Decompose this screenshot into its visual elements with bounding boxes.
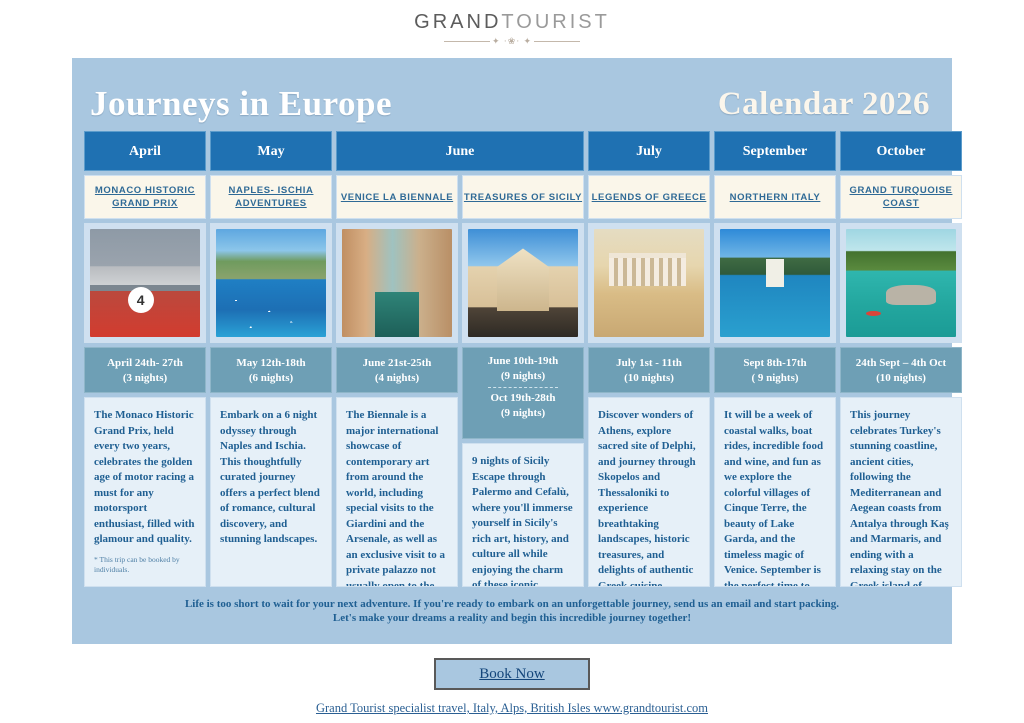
dates-nights-sicily-1: (9 nights) bbox=[465, 369, 581, 384]
dates-range-october: 24th Sept – 4th Oct bbox=[843, 356, 959, 371]
month-header-september: September bbox=[714, 131, 836, 171]
description-text-april: The Monaco Historic Grand Prix, held eve… bbox=[94, 409, 195, 545]
description-july: Discover wonders of Athens, explore sacr… bbox=[588, 397, 710, 587]
acropolis-athens-photo bbox=[594, 229, 704, 337]
trip-title-cell-april[interactable]: MONACO HISTORIC GRAND PRIX bbox=[84, 175, 206, 219]
description-april: The Monaco Historic Grand Prix, held eve… bbox=[84, 397, 206, 587]
dates-range-may: May 12th-18th bbox=[213, 356, 329, 371]
dates-nights-may: (6 nights) bbox=[213, 371, 329, 386]
month-header-may: May bbox=[210, 131, 332, 171]
page-title: Journeys in Europe bbox=[90, 86, 392, 121]
dates-cell-october: 24th Sept – 4th Oct (10 nights) bbox=[840, 347, 962, 393]
dates-range-sicily-2: Oct 19th-28th bbox=[465, 391, 581, 406]
photo-cell-may bbox=[210, 223, 332, 343]
column-september: September NORTHERN ITALY Sept 8th-17th (… bbox=[714, 131, 836, 587]
trip-link-treasures-of-sicily[interactable]: TREASURES OF SICILY bbox=[464, 191, 582, 204]
capri-coast-photo bbox=[216, 229, 326, 337]
trip-title-cell-july[interactable]: LEGENDS OF GREECE bbox=[588, 175, 710, 219]
trip-title-cell-venice[interactable]: VENICE LA BIENNALE bbox=[336, 175, 458, 219]
venice-canal-gondola-photo bbox=[342, 229, 452, 337]
month-header-october: October bbox=[840, 131, 962, 171]
page-footer: Book Now Grand Tourist specialist travel… bbox=[0, 644, 1024, 716]
description-text-venice: The Biennale is a major international sh… bbox=[346, 409, 445, 587]
photo-cell-april bbox=[84, 223, 206, 343]
dates-cell-may: May 12th-18th (6 nights) bbox=[210, 347, 332, 393]
trip-title-cell-october[interactable]: GRAND TURQUOISE COAST bbox=[840, 175, 962, 219]
description-september: It will be a week of coastal walks, boat… bbox=[714, 397, 836, 587]
dates-nights-venice: (4 nights) bbox=[339, 371, 455, 386]
lake-garda-villa-photo bbox=[720, 229, 830, 337]
trip-link-monaco[interactable]: MONACO HISTORIC GRAND PRIX bbox=[85, 184, 205, 210]
dates-cell-april: April 24th- 27th (3 nights) bbox=[84, 347, 206, 393]
brand-header: GRANDTOURIST ✦ ·❀· ✦ bbox=[0, 0, 1024, 58]
column-june: June VENICE LA BIENNALE TREASURES OF SIC… bbox=[336, 131, 584, 587]
description-text-july: Discover wonders of Athens, explore sacr… bbox=[598, 409, 696, 587]
calendar-year-title: Calendar 2026 bbox=[718, 88, 934, 121]
column-may: May NAPLES- ISCHIA ADVENTURES May 12th-1… bbox=[210, 131, 332, 587]
sicily-baroque-church-photo bbox=[468, 229, 578, 337]
description-text-september: It will be a week of coastal walks, boat… bbox=[724, 409, 823, 587]
photo-cell-september bbox=[714, 223, 836, 343]
month-header-april: April bbox=[84, 131, 206, 171]
description-october: This journey celebrates Turkey's stunnin… bbox=[840, 397, 962, 587]
dates-nights-april: (3 nights) bbox=[87, 371, 203, 386]
trip-link-grand-turquoise-coast[interactable]: GRAND TURQUOISE COAST bbox=[841, 184, 961, 210]
footer-site-line[interactable]: Grand Tourist specialist travel, Italy, … bbox=[316, 701, 708, 716]
dates-range-venice: June 21st-25th bbox=[339, 356, 455, 371]
june-dates: June 21st-25th (4 nights) The Biennale i… bbox=[336, 347, 584, 587]
dates-nights-september: ( 9 nights) bbox=[717, 371, 833, 386]
description-venice: The Biennale is a major international sh… bbox=[336, 397, 458, 587]
trip-link-naples-ischia[interactable]: NAPLES- ISCHIA ADVENTURES bbox=[211, 184, 331, 210]
book-now-button[interactable]: Book Now bbox=[434, 658, 590, 690]
column-october: October GRAND TURQUOISE COAST 24th Sept … bbox=[840, 131, 962, 587]
dates-range-april: April 24th- 27th bbox=[87, 356, 203, 371]
photo-cell-october bbox=[840, 223, 962, 343]
board-titles: Journeys in Europe Calendar 2026 bbox=[84, 86, 940, 131]
description-text-october: This journey celebrates Turkey's stunnin… bbox=[850, 409, 949, 587]
ornament-line-left bbox=[444, 41, 490, 42]
calendar-page: GRANDTOURIST ✦ ·❀· ✦ Journeys in Europe … bbox=[0, 0, 1024, 723]
dates-range-july: July 1st - 11th bbox=[591, 356, 707, 371]
dates-separator bbox=[488, 387, 558, 388]
photo-cell-sicily bbox=[462, 223, 584, 343]
description-may: Embark on a 6 night odyssey through Napl… bbox=[210, 397, 332, 587]
trip-title-cell-september[interactable]: NORTHERN ITALY bbox=[714, 175, 836, 219]
ornament-line-right bbox=[534, 41, 580, 42]
dates-nights-sicily-2: (9 nights) bbox=[465, 406, 581, 421]
trip-title-cell-sicily[interactable]: TREASURES OF SICILY bbox=[462, 175, 584, 219]
ornament-divider: ✦ ·❀· ✦ bbox=[444, 36, 580, 48]
footnote-april: * This trip can be booked by individuals… bbox=[94, 555, 196, 575]
description-text-may: Embark on a 6 night odyssey through Napl… bbox=[220, 409, 320, 545]
dates-nights-july: (10 nights) bbox=[591, 371, 707, 386]
june-trip-titles: VENICE LA BIENNALE TREASURES OF SICILY bbox=[336, 175, 584, 219]
tagline: Life is too short to wait for your next … bbox=[84, 587, 940, 625]
dates-cell-july: July 1st - 11th (10 nights) bbox=[588, 347, 710, 393]
calendar-grid: April MONACO HISTORIC GRAND PRIX April 2… bbox=[84, 131, 940, 587]
month-header-july: July bbox=[588, 131, 710, 171]
description-text-sicily: 9 nights of Sicily Escape through Palerm… bbox=[472, 455, 573, 587]
photo-cell-venice bbox=[336, 223, 458, 343]
brand-logo: GRANDTOURIST bbox=[414, 11, 610, 34]
brand-word-tourist: TOURIST bbox=[501, 11, 609, 34]
monaco-grand-prix-photo bbox=[90, 229, 200, 337]
turquoise-coast-kayak-photo bbox=[846, 229, 956, 337]
trip-link-northern-italy[interactable]: NORTHERN ITALY bbox=[730, 191, 821, 204]
dates-cell-venice: June 21st-25th (4 nights) bbox=[336, 347, 458, 393]
calendar-board: Journeys in Europe Calendar 2026 April M… bbox=[72, 58, 952, 644]
trip-link-legends-of-greece[interactable]: LEGENDS OF GREECE bbox=[592, 191, 707, 204]
tagline-line-1: Life is too short to wait for your next … bbox=[104, 597, 920, 611]
trip-link-venice-biennale[interactable]: VENICE LA BIENNALE bbox=[341, 191, 453, 204]
dates-cell-sicily: June 10th-19th (9 nights) Oct 19th-28th … bbox=[462, 347, 584, 439]
trip-title-cell-may[interactable]: NAPLES- ISCHIA ADVENTURES bbox=[210, 175, 332, 219]
month-header-june: June bbox=[336, 131, 584, 171]
dates-range-september: Sept 8th-17th bbox=[717, 356, 833, 371]
description-sicily: 9 nights of Sicily Escape through Palerm… bbox=[462, 443, 584, 587]
june-photos bbox=[336, 223, 584, 343]
ornament-glyph: ✦ ·❀· ✦ bbox=[492, 36, 532, 47]
photo-cell-july bbox=[588, 223, 710, 343]
tagline-line-2: Let's make your dreams a reality and beg… bbox=[104, 611, 920, 625]
column-april: April MONACO HISTORIC GRAND PRIX April 2… bbox=[84, 131, 206, 587]
brand-word-grand: GRAND bbox=[414, 11, 501, 34]
dates-range-sicily-1: June 10th-19th bbox=[465, 354, 581, 369]
book-now-label: Book Now bbox=[479, 666, 544, 683]
dates-cell-september: Sept 8th-17th ( 9 nights) bbox=[714, 347, 836, 393]
column-july: July LEGENDS OF GREECE July 1st - 11th (… bbox=[588, 131, 710, 587]
dates-nights-october: (10 nights) bbox=[843, 371, 959, 386]
